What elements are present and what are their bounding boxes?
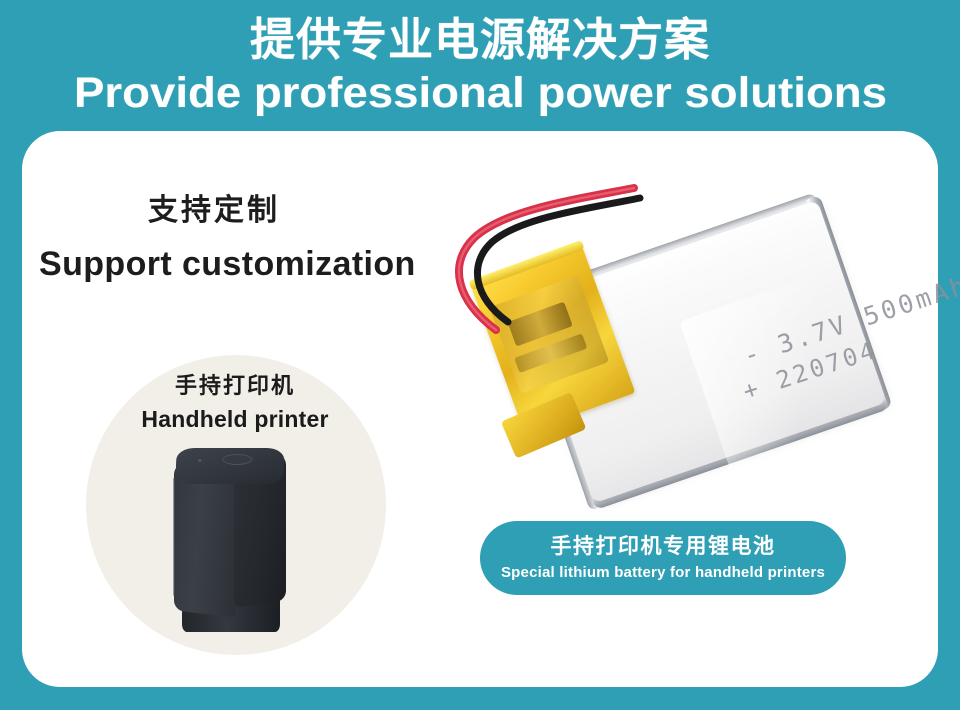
printer-led-icon [198, 459, 201, 462]
printer-front-face [174, 462, 236, 617]
printer-top-face [175, 448, 284, 484]
support-heading-cn: 支持定制 [148, 185, 280, 229]
printer-seam-line [173, 478, 175, 596]
printer-button-icon [222, 454, 252, 465]
banner-title-en: Provide professional power solutions [74, 72, 887, 115]
support-heading-en: Support customization [39, 245, 416, 284]
badge-text-en: Special lithium battery for handheld pri… [501, 564, 825, 581]
banner-header: 提供专业电源解决方案 Provide professional power so… [0, 0, 960, 132]
battery-wires [430, 180, 690, 360]
banner-title-cn: 提供专业电源解决方案 [250, 17, 710, 62]
badge-text-cn: 手持打印机专用锂电池 [551, 535, 776, 559]
handheld-printer-image [168, 444, 296, 636]
battery-badge: 手持打印机专用锂电池 Special lithium battery for h… [480, 521, 846, 595]
